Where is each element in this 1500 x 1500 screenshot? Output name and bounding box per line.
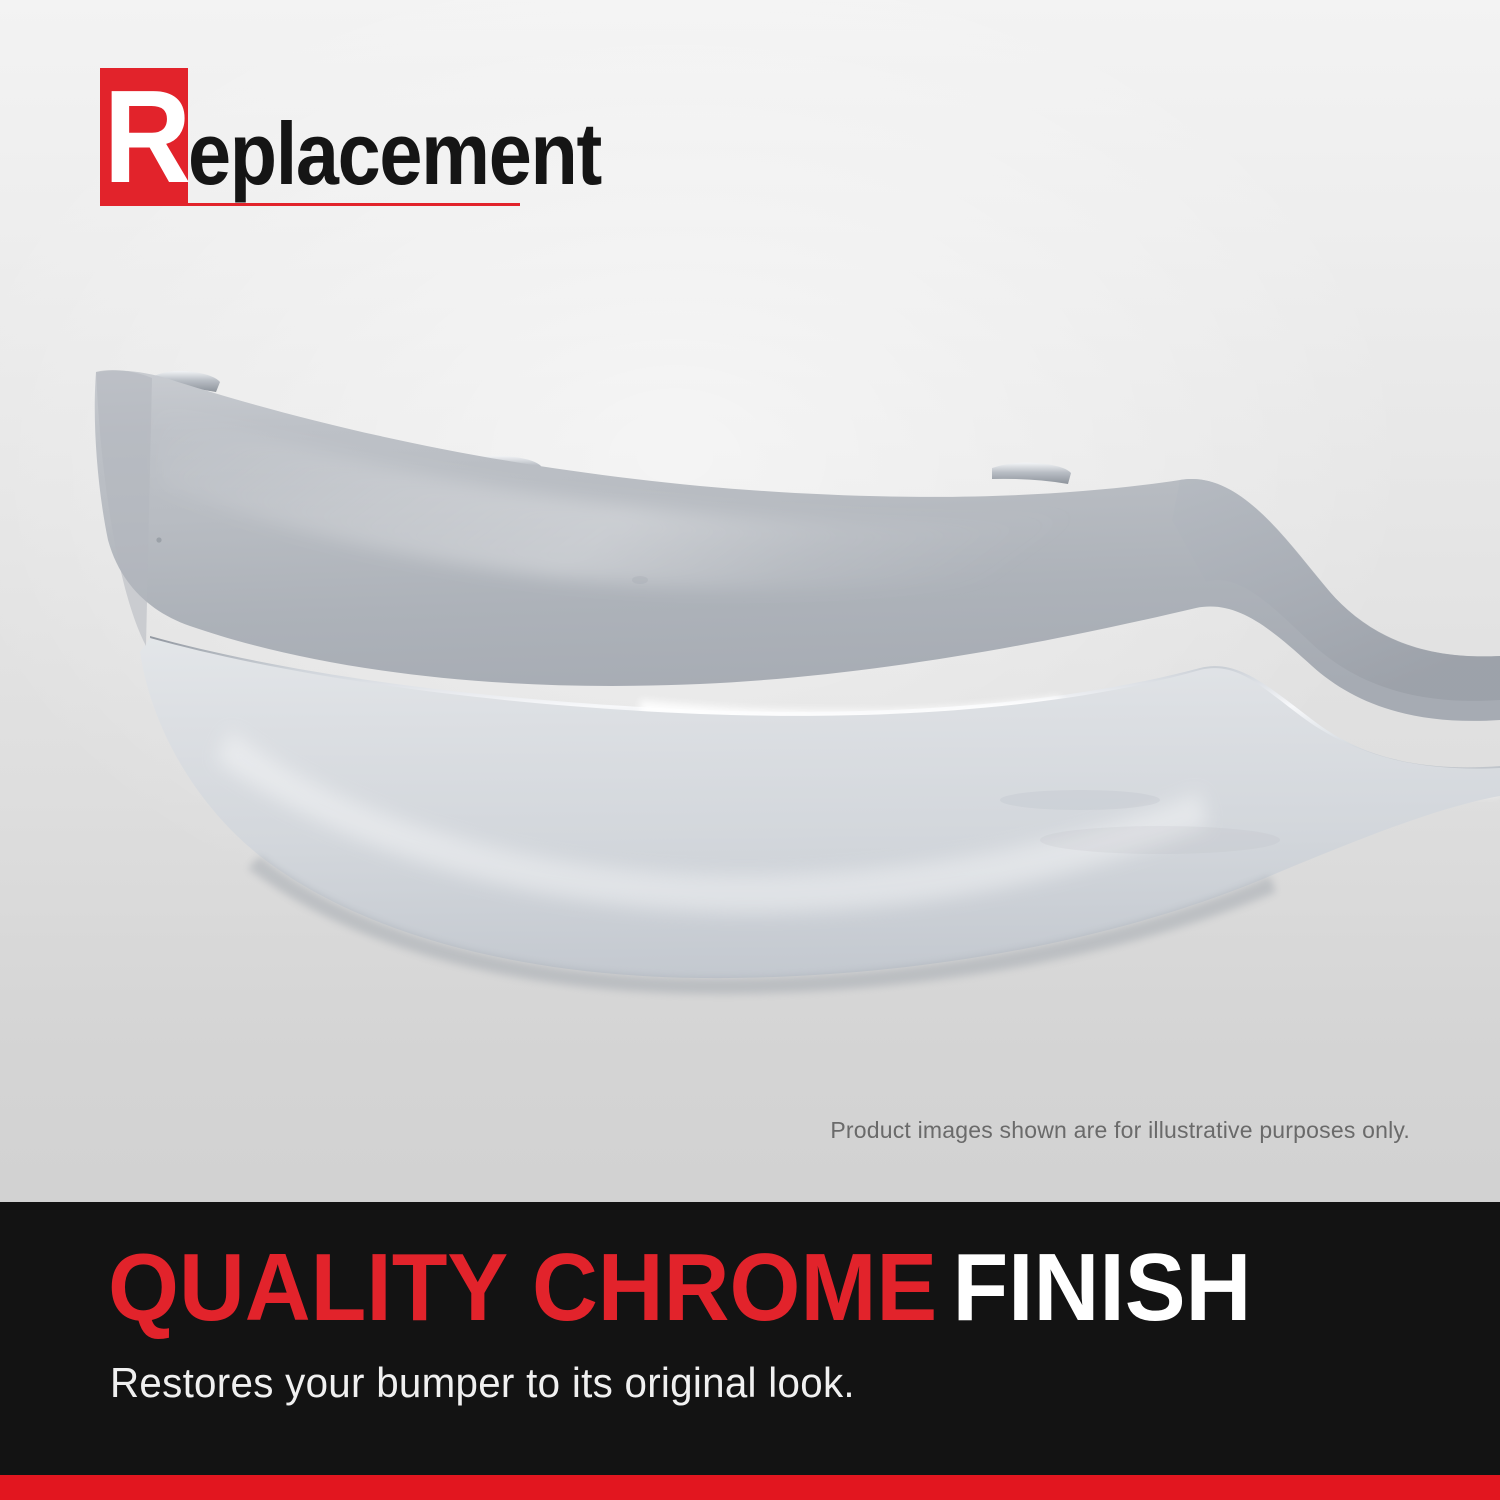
product-marketing-image: R eplacement Product images shown are fo… (0, 0, 1500, 1500)
headline-highlight: QUALITY CHROME (108, 1234, 937, 1341)
banner-subtitle: Restores your bumper to its original loo… (110, 1358, 855, 1408)
logo-initial: R (104, 68, 185, 206)
headline-rest: FINISH (952, 1234, 1251, 1341)
feature-banner: QUALITY CHROMEFINISH Restores your bumpe… (0, 1202, 1500, 1475)
disclaimer-text: Product images shown are for illustrativ… (830, 1116, 1410, 1144)
logo-wordmark: eplacement (188, 106, 601, 202)
hero-product-photo: R eplacement Product images shown are fo… (0, 0, 1500, 1202)
banner-headline: QUALITY CHROMEFINISH (108, 1238, 1251, 1338)
footer-red-rule (0, 1475, 1500, 1500)
logo-underline (188, 203, 520, 206)
brand-logo: R eplacement (100, 60, 540, 210)
